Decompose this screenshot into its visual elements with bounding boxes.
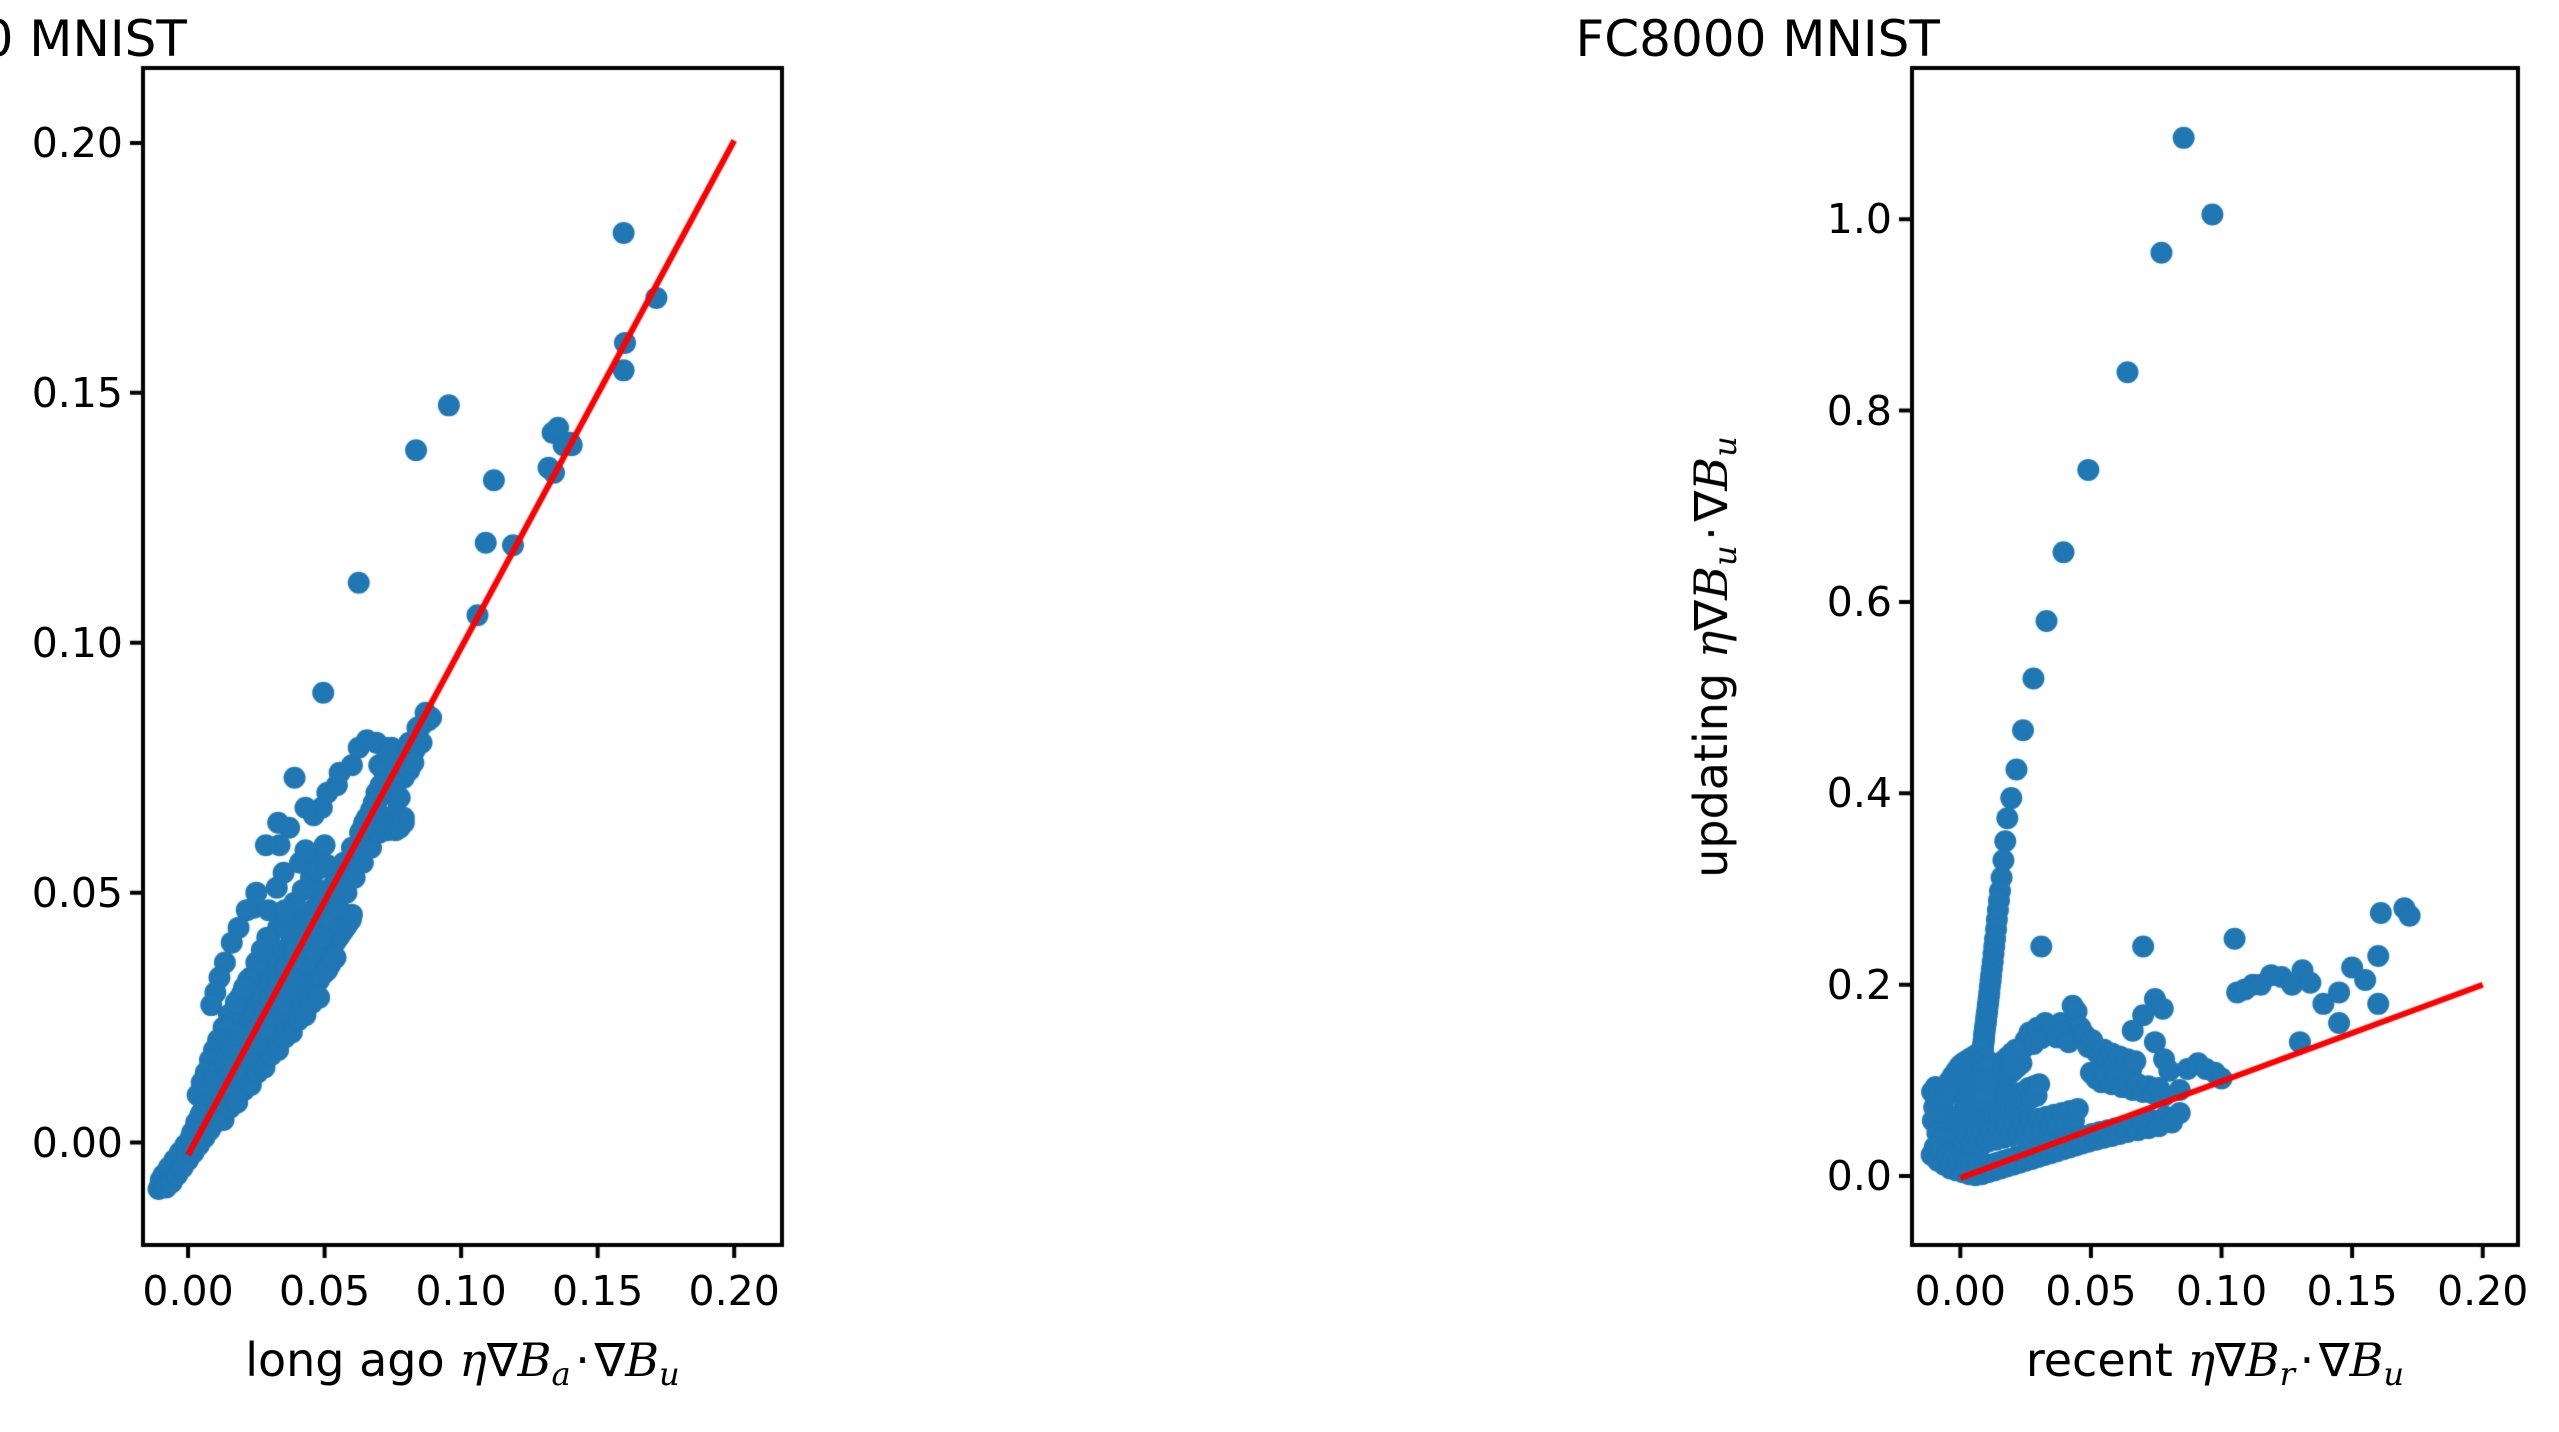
x-axis-title-left: long ago η∇Ba·∇Bu bbox=[245, 1333, 680, 1393]
scatter-plot-right bbox=[1280, 0, 2559, 1432]
x-tick-label: 0.20 bbox=[689, 1267, 780, 1315]
y-tick-label: 0.15 bbox=[0, 369, 123, 417]
y-tick-label: 0.10 bbox=[0, 619, 123, 667]
label-prefix: recent bbox=[2026, 1333, 2188, 1387]
nabla-symbol: ∇ bbox=[2215, 1333, 2246, 1387]
y-tick-label: 0.4 bbox=[1767, 769, 1892, 817]
label-prefix: updating bbox=[1684, 658, 1738, 878]
B-symbol: B bbox=[1684, 566, 1738, 600]
B-symbol: B bbox=[2246, 1333, 2280, 1387]
dot-operator: · bbox=[1684, 521, 1738, 545]
eta-symbol: η bbox=[2187, 1333, 2215, 1387]
eta-symbol: η bbox=[459, 1333, 487, 1387]
x-tick-label: 0.20 bbox=[2437, 1267, 2528, 1315]
B-subscript: u bbox=[659, 1355, 680, 1393]
y-tick-label: 0.6 bbox=[1767, 578, 1892, 626]
x-tick-label: 0.15 bbox=[552, 1267, 643, 1315]
dot-operator: · bbox=[2295, 1333, 2319, 1387]
dot-operator: · bbox=[571, 1333, 595, 1387]
x-tick-label: 0.15 bbox=[2306, 1267, 2397, 1315]
y-tick-label: 1.0 bbox=[1767, 195, 1892, 243]
y-tick-label: 0.05 bbox=[0, 869, 123, 917]
B-symbol: B bbox=[2350, 1333, 2384, 1387]
figure-root: FC8000 MNIST 0.000.050.100.150.200.000.0… bbox=[0, 0, 2559, 1432]
y-tick-label: 0.0 bbox=[1767, 1152, 1892, 1200]
B-subscript: u bbox=[1706, 436, 1744, 457]
x-tick-label: 0.00 bbox=[1915, 1267, 2006, 1315]
y-tick-label: 0.00 bbox=[0, 1119, 123, 1167]
B-subscript: u bbox=[1706, 545, 1744, 566]
subplot-right: FC8000 MNIST 0.000.050.100.150.200.00.20… bbox=[1280, 0, 2559, 1432]
nabla-symbol: ∇ bbox=[487, 1333, 518, 1387]
B-symbol: B bbox=[625, 1333, 659, 1387]
eta-symbol: η bbox=[1684, 630, 1738, 658]
x-tick-label: 0.10 bbox=[2176, 1267, 2267, 1315]
B-symbol: B bbox=[1684, 456, 1738, 490]
x-tick-label: 0.05 bbox=[279, 1267, 370, 1315]
B-subscript: u bbox=[2383, 1355, 2404, 1393]
x-tick-label: 0.00 bbox=[142, 1267, 233, 1315]
y-tick-label: 0.20 bbox=[0, 119, 123, 167]
x-tick-label: 0.10 bbox=[415, 1267, 506, 1315]
x-axis-title-right: recent η∇Br·∇Bu bbox=[2026, 1333, 2404, 1393]
subplot-left: FC8000 MNIST 0.000.050.100.150.200.000.0… bbox=[0, 0, 1280, 1432]
B-subscript: r bbox=[2280, 1355, 2295, 1393]
nabla-symbol: ∇ bbox=[1684, 490, 1738, 521]
nabla-symbol: ∇ bbox=[594, 1333, 625, 1387]
nabla-symbol: ∇ bbox=[2319, 1333, 2350, 1387]
x-tick-label: 0.05 bbox=[2045, 1267, 2136, 1315]
y-axis-title-right: updating η∇Bu·∇Bu bbox=[1684, 436, 1744, 878]
nabla-symbol: ∇ bbox=[1684, 599, 1738, 630]
y-tick-label: 0.8 bbox=[1767, 387, 1892, 435]
y-tick-label: 0.2 bbox=[1767, 961, 1892, 1009]
scatter-plot-left bbox=[0, 0, 1280, 1432]
B-symbol: B bbox=[518, 1333, 552, 1387]
label-prefix: long ago bbox=[245, 1333, 459, 1387]
B-subscript: a bbox=[551, 1355, 570, 1393]
